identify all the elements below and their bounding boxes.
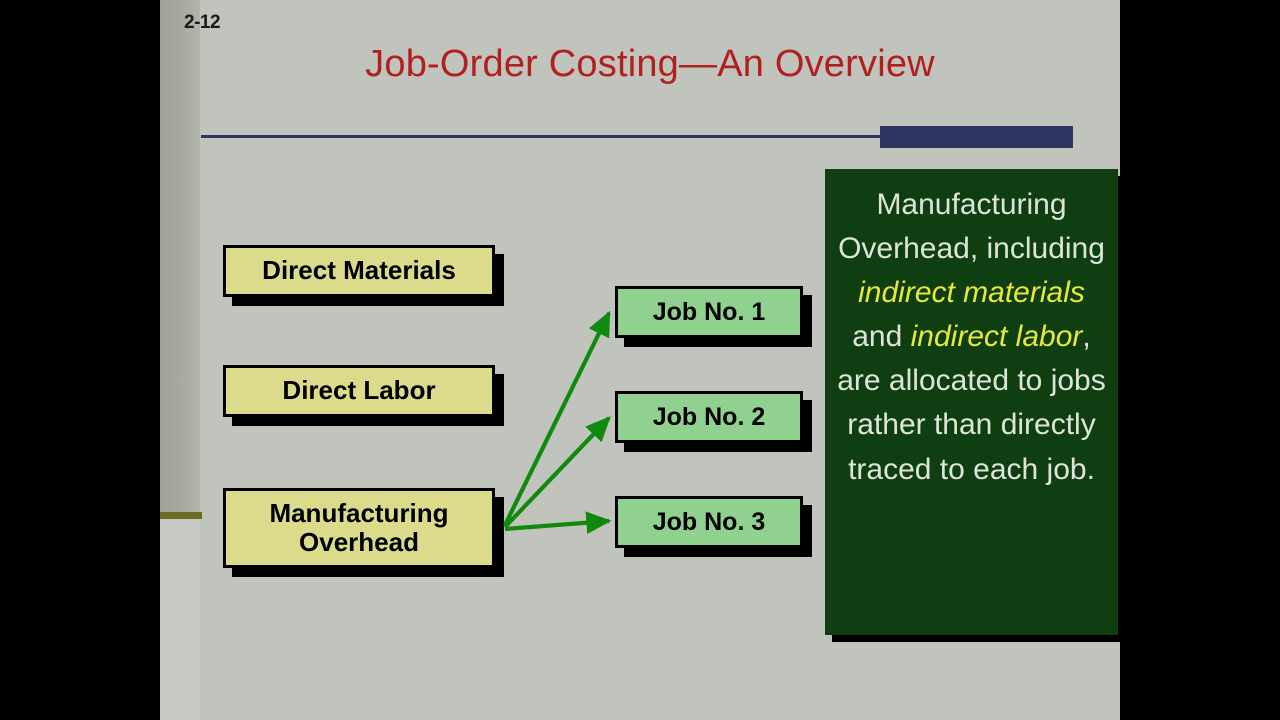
- flow-box-job-1: Job No. 1: [615, 286, 803, 338]
- arrow-overhead-to-job-3: [505, 521, 609, 529]
- callout-emphasis-indirect-labor: indirect labor: [911, 320, 1083, 353]
- callout-text-part-1: Manufacturing Overhead, including: [838, 188, 1105, 265]
- title-accent-block: [880, 126, 1073, 148]
- page-title: Job-Order Costing—An Overview: [220, 43, 1080, 86]
- flow-box-job-3: Job No. 3: [615, 496, 803, 548]
- sidebar-decoration-band: [160, 0, 200, 512]
- flow-box-direct-labor: Direct Labor: [223, 365, 495, 417]
- callout-text-part-2: and: [852, 320, 910, 353]
- sidebar-lower-band: [160, 519, 200, 720]
- arrow-overhead-to-job-2: [505, 418, 609, 527]
- sidebar-accent-line: [160, 512, 202, 519]
- slide-number: 2-12: [184, 12, 220, 34]
- flow-box-direct-materials: Direct Materials: [223, 245, 495, 297]
- slide-canvas: 2-12 Job-Order Costing—An Overview Direc…: [160, 0, 1120, 720]
- flow-box-manufacturing-overhead: Manufacturing Overhead: [223, 488, 495, 568]
- callout-panel: Manufacturing Overhead, including indire…: [825, 169, 1118, 635]
- title-divider-rule: [201, 135, 881, 138]
- flow-box-job-2: Job No. 2: [615, 391, 803, 443]
- letterbox-stage: 2-12 Job-Order Costing—An Overview Direc…: [0, 0, 1280, 720]
- callout-emphasis-indirect-materials: indirect materials: [858, 276, 1085, 309]
- arrow-overhead-to-job-1: [505, 313, 609, 525]
